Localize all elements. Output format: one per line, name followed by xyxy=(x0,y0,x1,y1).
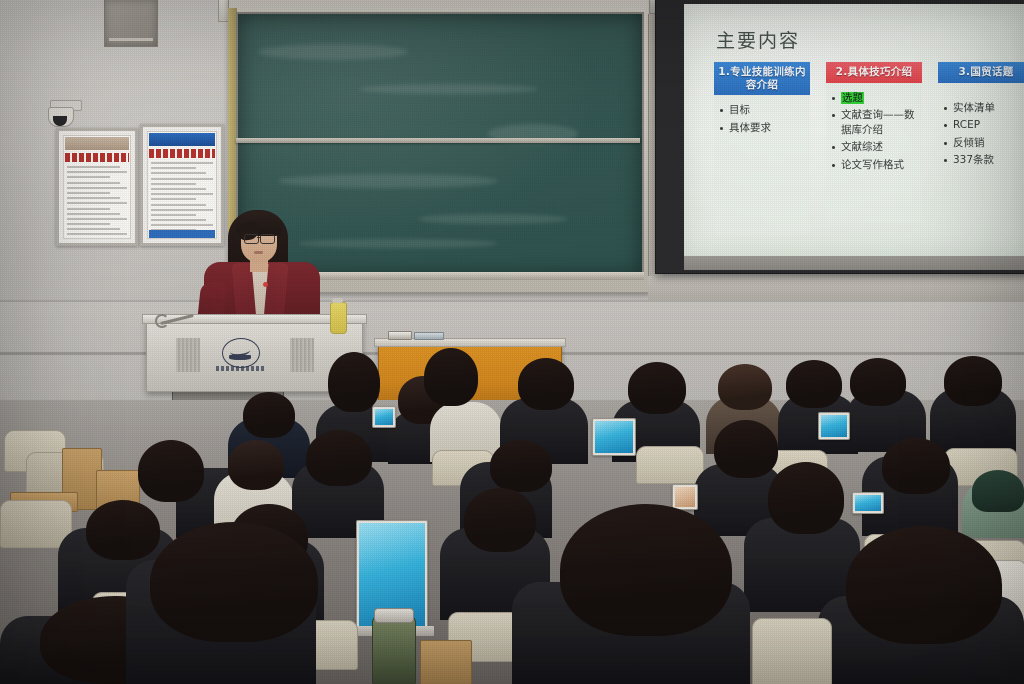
student-head xyxy=(768,462,844,534)
book-stack-1 xyxy=(388,331,412,340)
green-thermos-cap xyxy=(374,608,414,623)
student-head xyxy=(328,352,380,412)
university-emblem-icon xyxy=(214,338,266,376)
column-2-body: 选题 文献查询——数据库介绍 文献综述 论文写作格式 xyxy=(826,83,922,223)
column-3-header: 3.国贸话题 xyxy=(938,62,1024,83)
desk-edge xyxy=(420,640,472,684)
poster-right-title xyxy=(149,149,215,158)
poster-right-banner xyxy=(149,133,215,146)
student-head xyxy=(490,440,552,492)
student-head xyxy=(850,358,906,406)
green-thermos xyxy=(372,616,416,684)
poster-left-body xyxy=(67,166,127,235)
projection-screen: 主要内容 1.专业技能训练内容介绍 目标 具体要求 2.具体技巧介绍 选题 文献… xyxy=(684,4,1024,256)
list-item: 文献综述 xyxy=(830,140,918,155)
seat-back xyxy=(752,618,832,684)
book-stack-2 xyxy=(414,332,444,340)
list-item: 实体清单 xyxy=(942,101,1024,116)
slide-columns: 1.专业技能训练内容介绍 目标 具体要求 2.具体技巧介绍 选题 文献查询——数… xyxy=(714,62,1024,235)
presenter-mouth xyxy=(254,251,263,254)
student-head xyxy=(306,430,372,486)
column-3-body: 实体清单 RCEP 反倾销 337条款 xyxy=(938,83,1024,233)
wall-poster-left xyxy=(56,128,138,246)
student-head xyxy=(243,392,295,438)
slide-title: 主要内容 xyxy=(716,26,800,53)
presenter-badge xyxy=(263,282,268,287)
slide-column-1: 1.专业技能训练内容介绍 目标 具体要求 xyxy=(714,62,810,235)
laptop-screen xyxy=(818,412,850,440)
slide-column-3: 3.国贸话题 实体清单 RCEP 反倾销 337条款 xyxy=(938,62,1024,235)
list-item: 文献查询——数据库介绍 xyxy=(830,108,918,137)
list-item-highlighted: 选题 xyxy=(830,91,918,106)
poster-left-title xyxy=(65,153,129,162)
yellow-bottle xyxy=(330,302,347,334)
projection-screen-lower-edge xyxy=(684,256,1024,270)
device-screen xyxy=(672,484,698,510)
student-head-foreground xyxy=(846,526,1002,644)
microphone-head-icon xyxy=(155,314,169,328)
column-1-body: 目标 具体要求 xyxy=(714,95,810,235)
student-head xyxy=(882,438,950,494)
student-head xyxy=(944,356,1002,406)
poster-right-body xyxy=(151,162,213,235)
seat-back xyxy=(636,446,704,484)
poster-left-banner xyxy=(65,137,129,150)
laptop-screen xyxy=(372,406,396,428)
laptop-screen xyxy=(592,418,636,456)
student-head xyxy=(424,348,478,406)
student-head xyxy=(138,440,204,502)
list-item: 具体要求 xyxy=(718,121,806,136)
student-head xyxy=(228,440,284,490)
student-head xyxy=(628,362,686,414)
student-head xyxy=(86,500,160,560)
list-item: 论文写作格式 xyxy=(830,158,918,173)
laptop-screen xyxy=(852,492,884,514)
column-1-header: 1.专业技能训练内容介绍 xyxy=(714,62,810,95)
list-item: RCEP xyxy=(942,118,1024,133)
list-item: 反倾销 xyxy=(942,136,1024,151)
yellow-bottle-cap xyxy=(332,298,343,303)
glasses-bridge xyxy=(257,237,260,238)
lecture-hall-photo: 主要内容 1.专业技能训练内容介绍 目标 具体要求 2.具体技巧介绍 选题 文献… xyxy=(0,0,1024,684)
student-head xyxy=(464,488,536,552)
glasses-lens-right xyxy=(260,234,275,244)
list-item: 目标 xyxy=(718,103,806,118)
student-head-foreground xyxy=(150,522,318,642)
glasses-icon xyxy=(244,234,259,244)
list-item: 337条款 xyxy=(942,153,1024,168)
student-head xyxy=(518,358,574,410)
wall-poster-right xyxy=(140,124,224,246)
poster-right-footer xyxy=(149,230,215,238)
slide-column-2: 2.具体技巧介绍 选题 文献查询——数据库介绍 文献综述 论文写作格式 xyxy=(826,62,922,235)
student-head xyxy=(718,364,772,410)
chalkboard-divider-rail xyxy=(236,138,640,143)
chalkboard xyxy=(236,12,644,278)
podium-vent-right xyxy=(290,338,314,372)
podium-vent-left xyxy=(176,338,200,372)
student-head xyxy=(714,420,778,478)
ceiling-vent-box xyxy=(104,0,158,47)
highlight-mark: 选题 xyxy=(841,92,864,104)
beanie-hat xyxy=(972,470,1024,512)
wall-band-under-screen xyxy=(648,276,1024,302)
column-2-header: 2.具体技巧介绍 xyxy=(826,62,922,83)
student-head-foreground xyxy=(560,504,732,636)
student-head xyxy=(786,360,842,408)
